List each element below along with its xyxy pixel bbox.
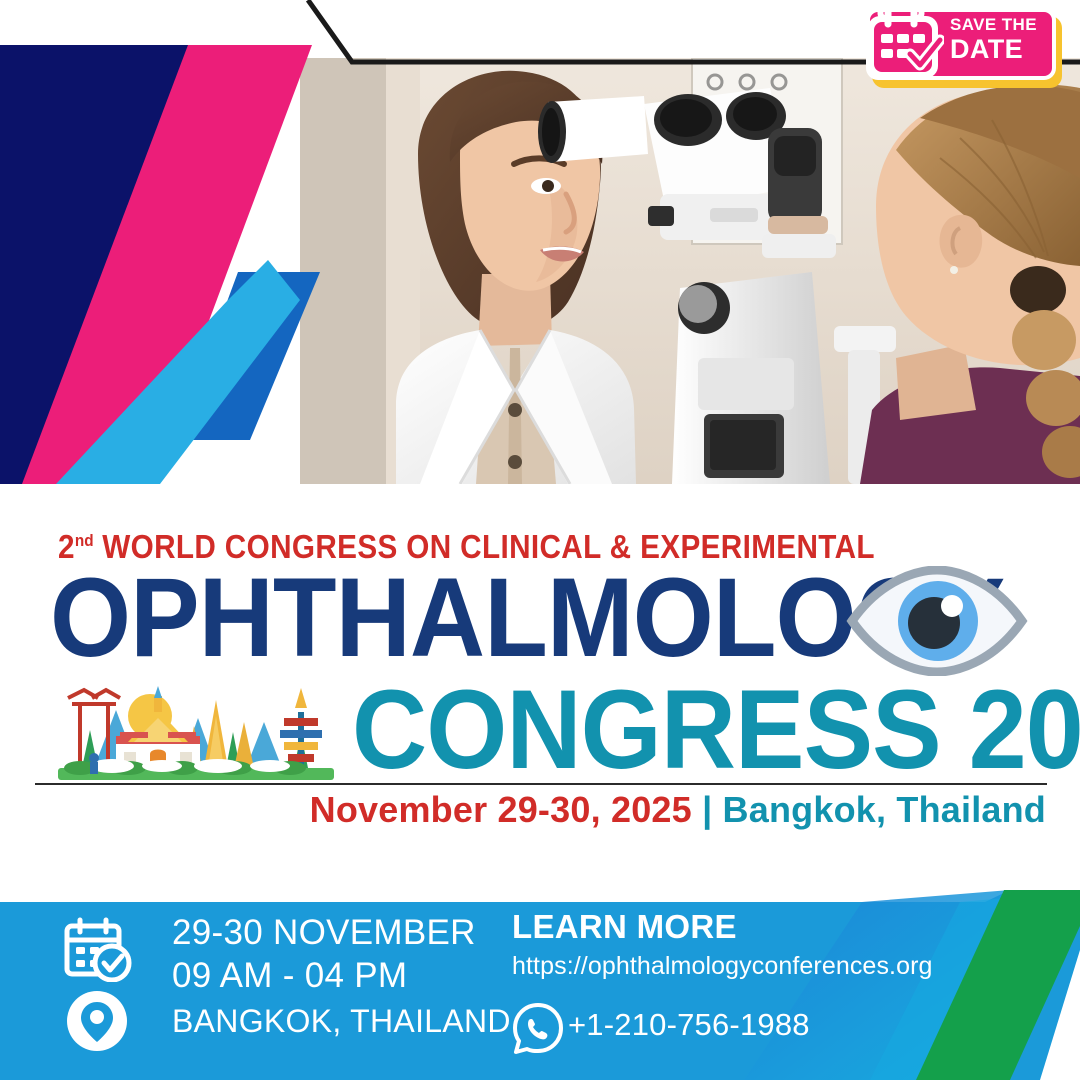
divider-rule [35, 783, 1047, 785]
location-pin-icon [66, 990, 128, 1052]
learn-more-label: LEARN MORE [512, 908, 737, 946]
bangkok-skyline-icon [58, 682, 334, 782]
whatsapp-icon[interactable] [512, 1002, 564, 1054]
conference-poster: SAVE THE DATE 2nd WORLD CONGRESS ON CLIN… [0, 0, 1080, 1080]
date-separator: | [702, 789, 712, 830]
phone-number[interactable]: +1-210-756-1988 [568, 1007, 810, 1043]
footer-date-line2: 09 AM - 04 PM [172, 955, 476, 998]
badge-text: SAVE THE DATE [950, 16, 1050, 63]
website-url[interactable]: https://ophthalmologyconferences.org [512, 952, 933, 981]
event-date: November 29-30, 2025 [310, 789, 692, 830]
event-date-location: November 29-30, 2025 | Bangkok, Thailand [0, 789, 1046, 831]
badge-line1: SAVE THE [950, 16, 1050, 33]
page-subtitle: CONGRESS 2025 [352, 674, 1080, 786]
calendar-check-icon [62, 916, 134, 982]
footer-section: 29-30 NOVEMBER 09 AM - 04 PM BANGKOK, TH… [0, 890, 1080, 1080]
footer-location: BANGKOK, THAILAND [172, 1003, 511, 1040]
eye-icon [846, 566, 1028, 676]
footer-date-line1: 29-30 NOVEMBER [172, 912, 476, 955]
calendar-check-icon [862, 4, 944, 84]
hero-section: SAVE THE DATE [0, 0, 1080, 484]
event-city: Bangkok, Thailand [723, 789, 1046, 830]
footer-date: 29-30 NOVEMBER 09 AM - 04 PM [172, 912, 476, 997]
save-the-date-badge[interactable]: SAVE THE DATE [866, 8, 1062, 88]
badge-line2: DATE [950, 36, 1050, 63]
kicker-ordinal-suffix: nd [75, 531, 94, 550]
